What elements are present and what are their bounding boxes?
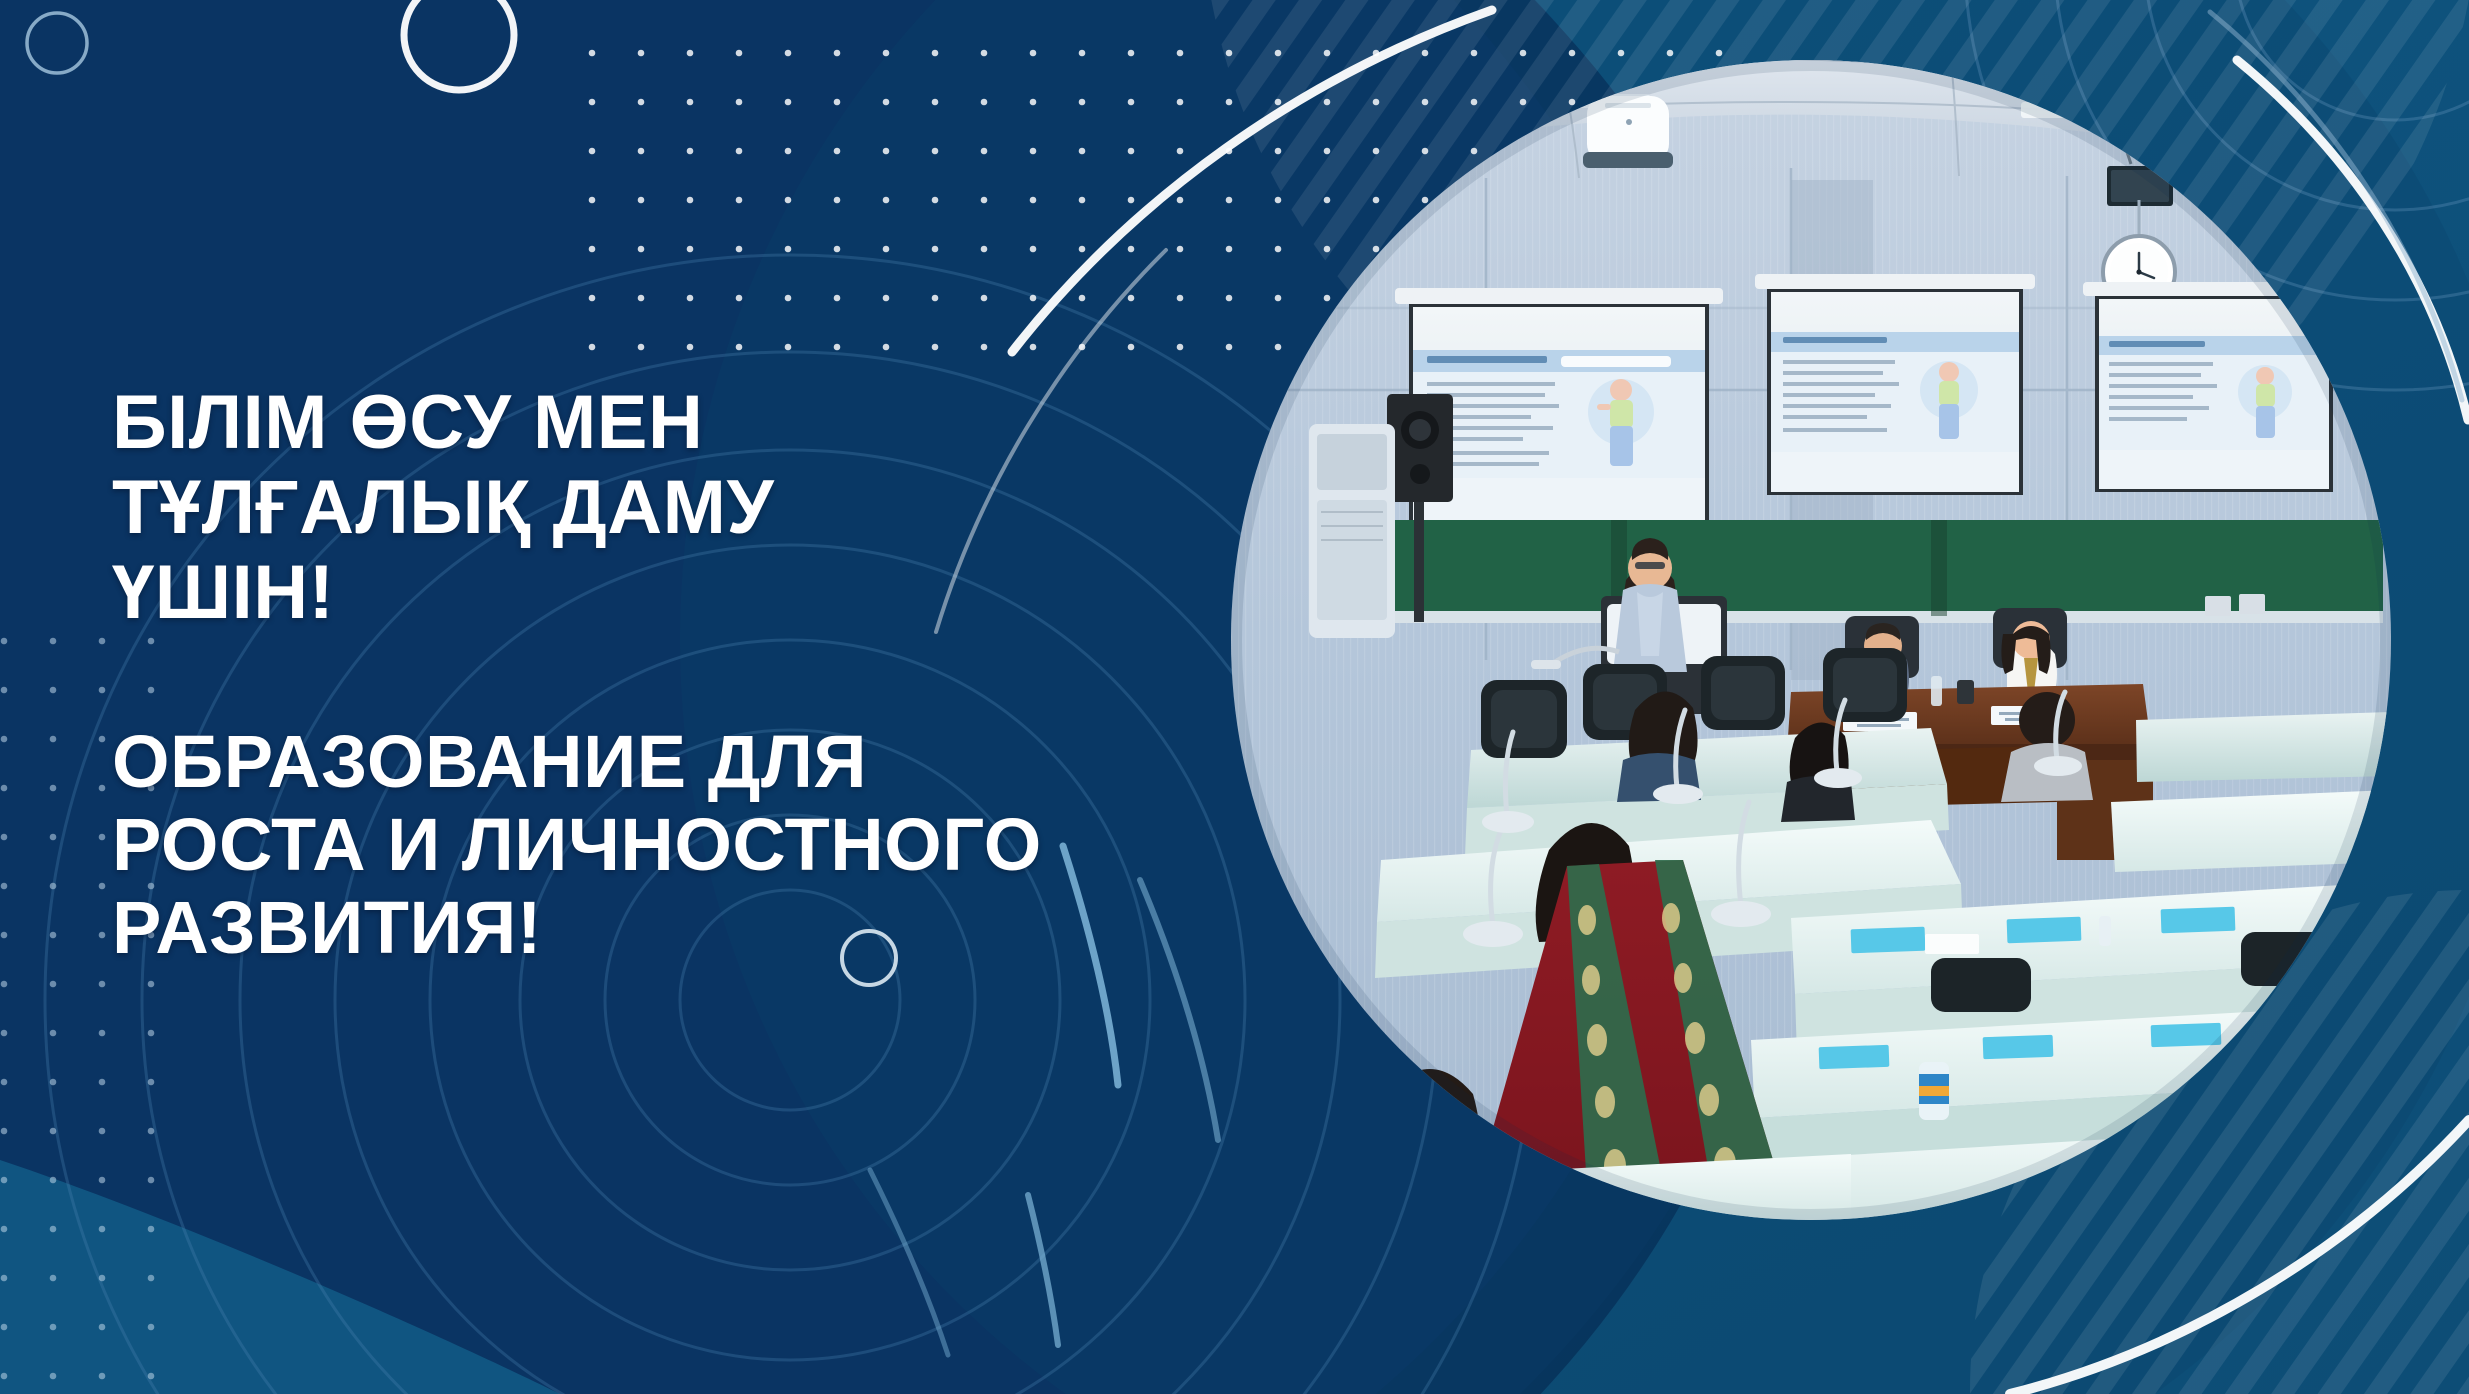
projection-screen xyxy=(1755,274,2035,495)
soda-can xyxy=(1919,1062,1949,1120)
promo-banner: БІЛІМ ӨСУ МЕН ТҰЛҒАЛЫҚ ДАМУ ҮШІН! ОБРАЗО… xyxy=(0,0,2469,1394)
green-chalkboard xyxy=(1383,520,2383,623)
headline-kazakh: БІЛІМ ӨСУ МЕН ТҰЛҒАЛЫҚ ДАМУ ҮШІН! xyxy=(112,380,1172,635)
headline-russian: ОБРАЗОВАНИЕ ДЛЯ РОСТА И ЛИЧНОСТНОГО РАЗВ… xyxy=(112,721,1172,970)
lecture-hall-photo xyxy=(1231,60,2391,1220)
headline-block: БІЛІМ ӨСУ МЕН ТҰЛҒАЛЫҚ ДАМУ ҮШІН! ОБРАЗО… xyxy=(112,380,1172,970)
air-conditioner-unit xyxy=(1309,424,1395,638)
